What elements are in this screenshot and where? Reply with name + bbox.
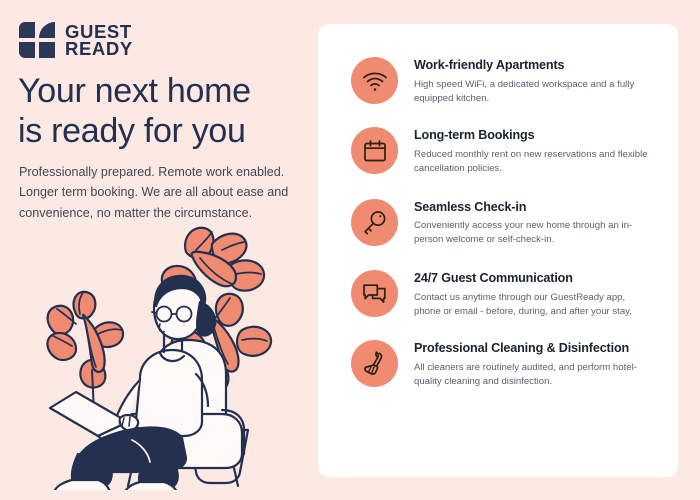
feature-description: Contact us anytime through our GuestRead… bbox=[414, 291, 650, 319]
page-title: Your next home is ready for you bbox=[18, 71, 304, 152]
feature-description: Conveniently access your new home throug… bbox=[414, 219, 650, 247]
chat-bubbles-icon bbox=[351, 270, 398, 317]
feature-description: Reduced monthly rent on new reservations… bbox=[414, 148, 650, 176]
hero-subcopy: Professionally prepared. Remote work ena… bbox=[19, 162, 291, 223]
feature-list: Work-friendly Apartments High speed WiFi… bbox=[318, 24, 678, 477]
brand-name-line2: READY bbox=[65, 40, 133, 57]
calendar-icon bbox=[351, 127, 398, 174]
feature-description: High speed WiFi, a dedicated workspace a… bbox=[414, 78, 650, 106]
feature-item-guest-communication[interactable]: 24/7 Guest Communication Contact us anyt… bbox=[351, 268, 658, 318]
feature-text: Seamless Check-in Conveniently access yo… bbox=[414, 197, 658, 247]
feature-item-long-term-bookings[interactable]: Long-term Bookings Reduced monthly rent … bbox=[351, 125, 658, 175]
feature-item-work-friendly-apartments[interactable]: Work-friendly Apartments High speed WiFi… bbox=[351, 55, 658, 105]
feature-title: Seamless Check-in bbox=[414, 200, 658, 216]
feature-description: All cleaners are routinely audited, and … bbox=[414, 361, 650, 389]
wifi-icon bbox=[351, 57, 398, 104]
feature-text: Work-friendly Apartments High speed WiFi… bbox=[414, 55, 658, 105]
features-panel: Work-friendly Apartments High speed WiFi… bbox=[318, 24, 678, 477]
feature-text: Long-term Bookings Reduced monthly rent … bbox=[414, 125, 658, 175]
feature-text: Professional Cleaning & Disinfection All… bbox=[414, 338, 658, 388]
woman-working-on-laptop-in-armchair-with-plants-illustration bbox=[36, 222, 308, 490]
brand-wordmark: GUEST READY bbox=[65, 23, 133, 57]
key-icon bbox=[351, 199, 398, 246]
feature-title: Professional Cleaning & Disinfection bbox=[414, 341, 658, 357]
feature-title: Work-friendly Apartments bbox=[414, 58, 658, 74]
promo-card: GUEST READY Your next home is ready for … bbox=[0, 0, 700, 500]
feature-title: 24/7 Guest Communication bbox=[414, 271, 658, 287]
hero-column: GUEST READY Your next home is ready for … bbox=[0, 0, 318, 500]
broom-icon bbox=[351, 340, 398, 387]
brand-logo[interactable]: GUEST READY bbox=[18, 21, 133, 59]
feature-item-professional-cleaning[interactable]: Professional Cleaning & Disinfection All… bbox=[351, 338, 658, 388]
feature-item-seamless-check-in[interactable]: Seamless Check-in Conveniently access yo… bbox=[351, 197, 658, 247]
feature-title: Long-term Bookings bbox=[414, 128, 658, 144]
feature-text: 24/7 Guest Communication Contact us anyt… bbox=[414, 268, 658, 318]
guestready-quadrant-logo-icon bbox=[18, 21, 56, 59]
